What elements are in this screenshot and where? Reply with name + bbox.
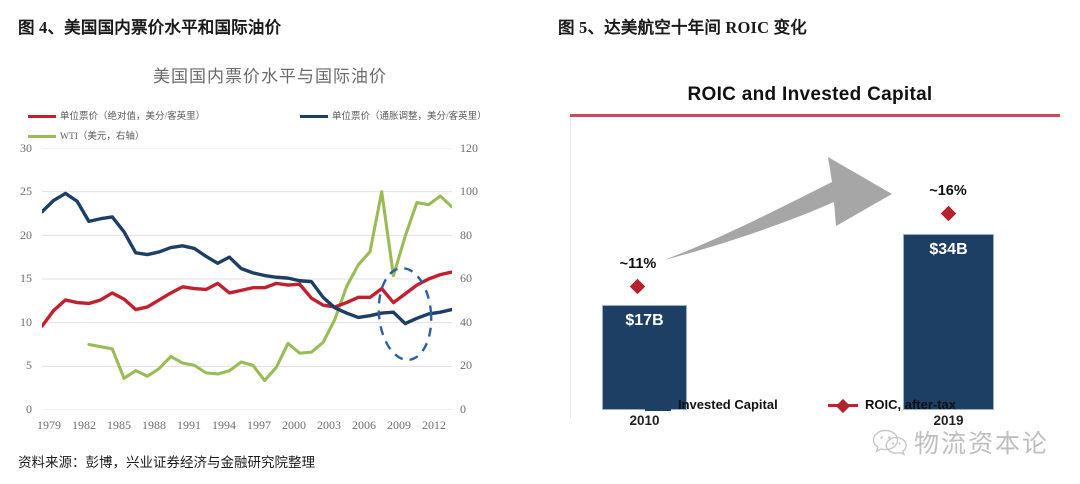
chart4-xtick-2012: 2012	[414, 418, 454, 433]
bar-invested-capital-2019: $34B	[903, 234, 994, 410]
chart4-y2tick-80: 80	[460, 228, 500, 243]
chart4-gridlines	[42, 148, 452, 410]
chart4-svg	[42, 148, 452, 410]
chart4-xtick-2006: 2006	[344, 418, 384, 433]
chart4-ytick-25: 25	[2, 184, 32, 199]
chart4-legend-item-wti: WTI（美元，右轴）	[28, 128, 144, 142]
figure-4-panel: 美国国内票价水平与国际油价 单位票价（绝对值，美分/客英里） 单位票价（通胀调整…	[0, 40, 540, 440]
growth-arrow-icon	[660, 152, 900, 267]
chart4-xtick-1994: 1994	[204, 418, 244, 433]
bar-xlabel-2010: 2010	[602, 413, 687, 428]
roic-label-2019: ~16%	[908, 183, 988, 199]
legend-swatch-roic	[828, 400, 858, 411]
roic-diamond-2019	[941, 206, 957, 222]
chart4-xtick-1985: 1985	[99, 418, 139, 433]
figure-5-panel: ROIC and Invested Capital ~11% $17B 2010…	[540, 40, 1080, 440]
report-page: 图 4、美国国内票价水平和国际油价 美国国内票价水平与国际油价 单位票价（绝对值…	[0, 0, 1080, 484]
legend-label-fare-real: 单位票价（通胀调整，美分/客英里）	[332, 112, 487, 122]
chart4-ytick-15: 15	[2, 271, 32, 286]
chart4-ytick-5: 5	[2, 358, 32, 373]
legend-label-fare-nominal: 单位票价（绝对值，美分/客英里）	[60, 112, 205, 122]
chart4-ytick-10: 10	[2, 315, 32, 330]
chart4-xtick-2003: 2003	[309, 418, 349, 433]
legend-swatch-invested-capital	[645, 400, 671, 411]
chart5-value-axis-line	[570, 118, 571, 418]
legend-swatch-green	[28, 135, 56, 138]
chart4-xtick-1988: 1988	[134, 418, 174, 433]
chart4-xtick-1997: 1997	[239, 418, 279, 433]
bar-invested-capital-2010: $17B	[602, 305, 687, 410]
chart4-y2tick-100: 100	[460, 184, 500, 199]
chart5-legend-item-roic: ROIC, after-tax	[828, 397, 956, 412]
chart4-series-fare-nominal	[42, 272, 452, 326]
legend-swatch-red	[28, 115, 56, 118]
bar-value-2019: $34B	[904, 241, 993, 259]
chart4-ytick-20: 20	[2, 228, 32, 243]
legend-label-wti: WTI（美元，右轴）	[60, 132, 144, 142]
roic-diamond-2010	[630, 279, 646, 295]
chart4-xtick-1979: 1979	[29, 418, 69, 433]
chart4-y2tick-20: 20	[460, 358, 500, 373]
legend-swatch-navy	[300, 115, 328, 118]
chart4-xtick-2000: 2000	[274, 418, 314, 433]
figure-4-caption: 图 4、美国国内票价水平和国际油价	[18, 14, 281, 38]
chart4-xtick-1991: 1991	[169, 418, 209, 433]
legend-label-invested-capital: Invested Capital	[678, 397, 778, 412]
chart4-y2tick-120: 120	[460, 141, 500, 156]
chart4-y2tick-60: 60	[460, 271, 500, 286]
chart5-title: ROIC and Invested Capital	[540, 84, 1080, 106]
chart4-plot-area	[42, 148, 452, 410]
wechat-icon	[872, 428, 908, 456]
chart4-ytick-30: 30	[2, 141, 32, 156]
chart4-y2tick-40: 40	[460, 315, 500, 330]
chart4-legend-item-fare-nominal: 单位票价（绝对值，美分/客英里）	[28, 108, 205, 122]
chart4-ytick-0: 0	[2, 402, 32, 417]
chart4-title: 美国国内票价水平与国际油价	[0, 62, 540, 87]
chart5-legend-item-invested-capital: Invested Capital	[645, 397, 778, 412]
source-note: 资料来源：彭博，兴业证券经济与金融研究院整理	[18, 451, 315, 471]
chart5-title-rule	[570, 114, 1060, 117]
roic-label-2010: ~11%	[598, 256, 678, 272]
chart4-xtick-1982: 1982	[64, 418, 104, 433]
chart4-y2tick-0: 0	[460, 402, 500, 417]
bar-value-2010: $17B	[603, 312, 686, 330]
watermark-text: 物流资本论	[914, 424, 1049, 460]
figure-5-caption: 图 5、达美航空十年间 ROIC 变化	[558, 14, 807, 38]
chart4-xtick-2009: 2009	[379, 418, 419, 433]
legend-label-roic: ROIC, after-tax	[865, 397, 956, 412]
chart4-legend-item-fare-real: 单位票价（通胀调整，美分/客英里）	[300, 108, 487, 122]
watermark: 物流资本论	[872, 424, 1049, 460]
